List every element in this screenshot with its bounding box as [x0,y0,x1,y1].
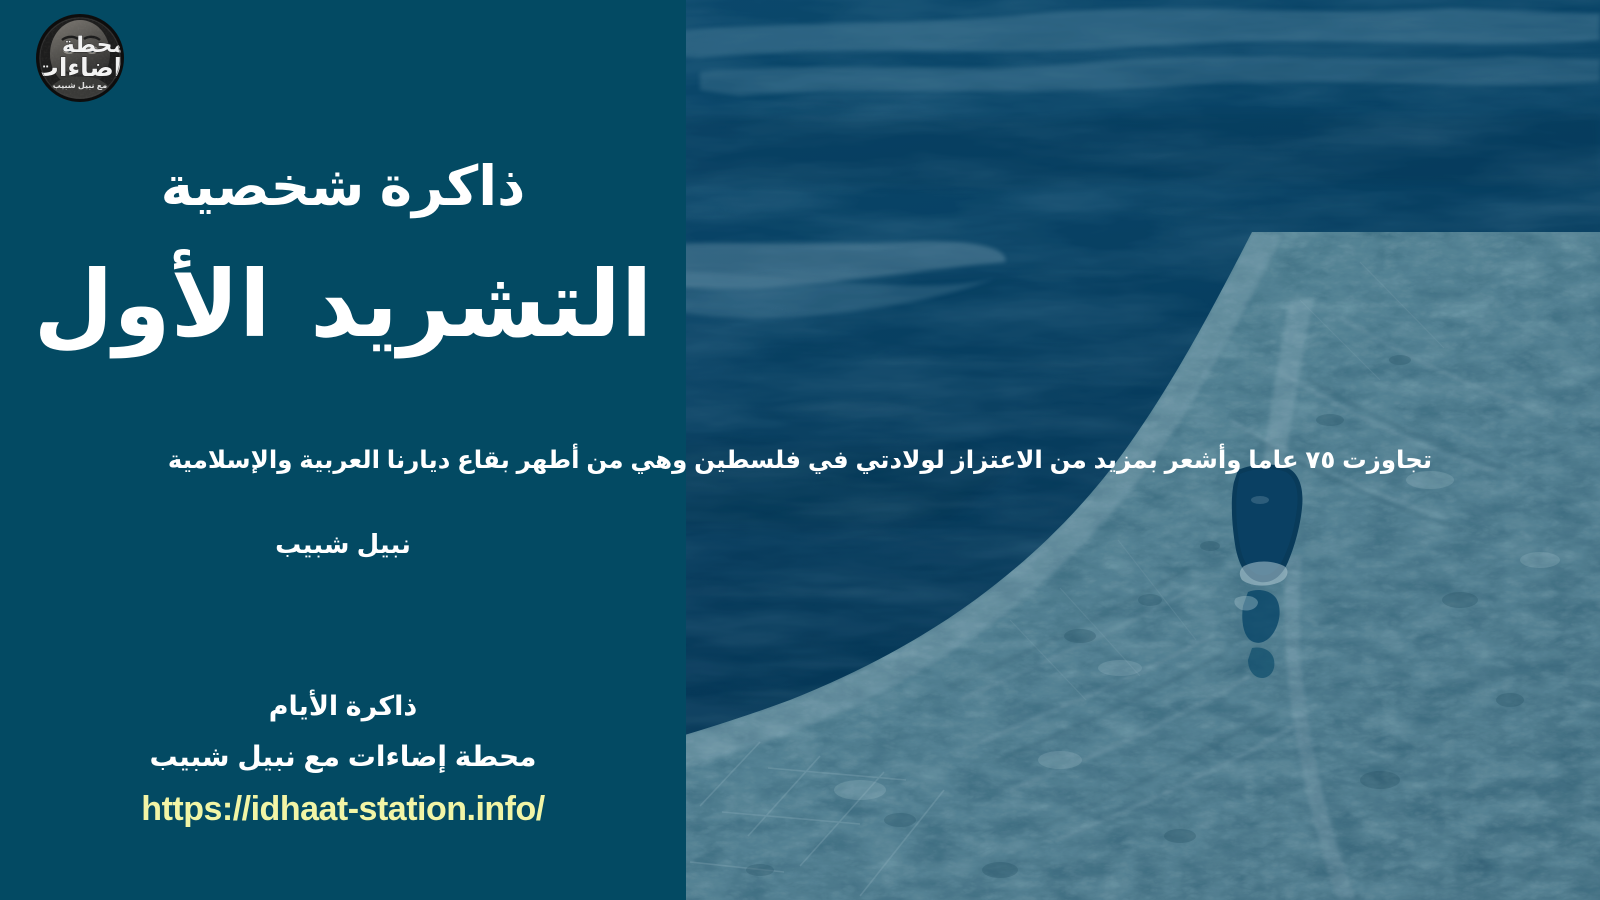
presentation-slide: محطة إضاءات مع نبيل شبيب ذاكرة شخصية الت… [0,0,1600,900]
website-url-link[interactable]: https://idhaat-station.info/ [0,790,686,829]
footer-block: ذاكرة الأيام محطة إضاءات مع نبيل شبيب ht… [0,688,686,829]
idhaat-station-logo[interactable]: محطة إضاءات مع نبيل شبيب [36,14,124,102]
svg-text:مع نبيل شبيب: مع نبيل شبيب [53,81,107,90]
program-name: محطة إضاءات مع نبيل شبيب [0,738,686,776]
slide-description: تجاوزت ٧٥ عاما وأشعر بمزيد من الاعتزاز ل… [0,445,1600,477]
series-name: ذاكرة الأيام [0,688,686,724]
svg-text:إضاءات: إضاءات [36,54,122,82]
page-title: التشريد الأول [0,255,686,356]
slide-subtitle: ذاكرة شخصية [0,158,686,216]
author-name: نبيل شبيب [0,528,686,562]
